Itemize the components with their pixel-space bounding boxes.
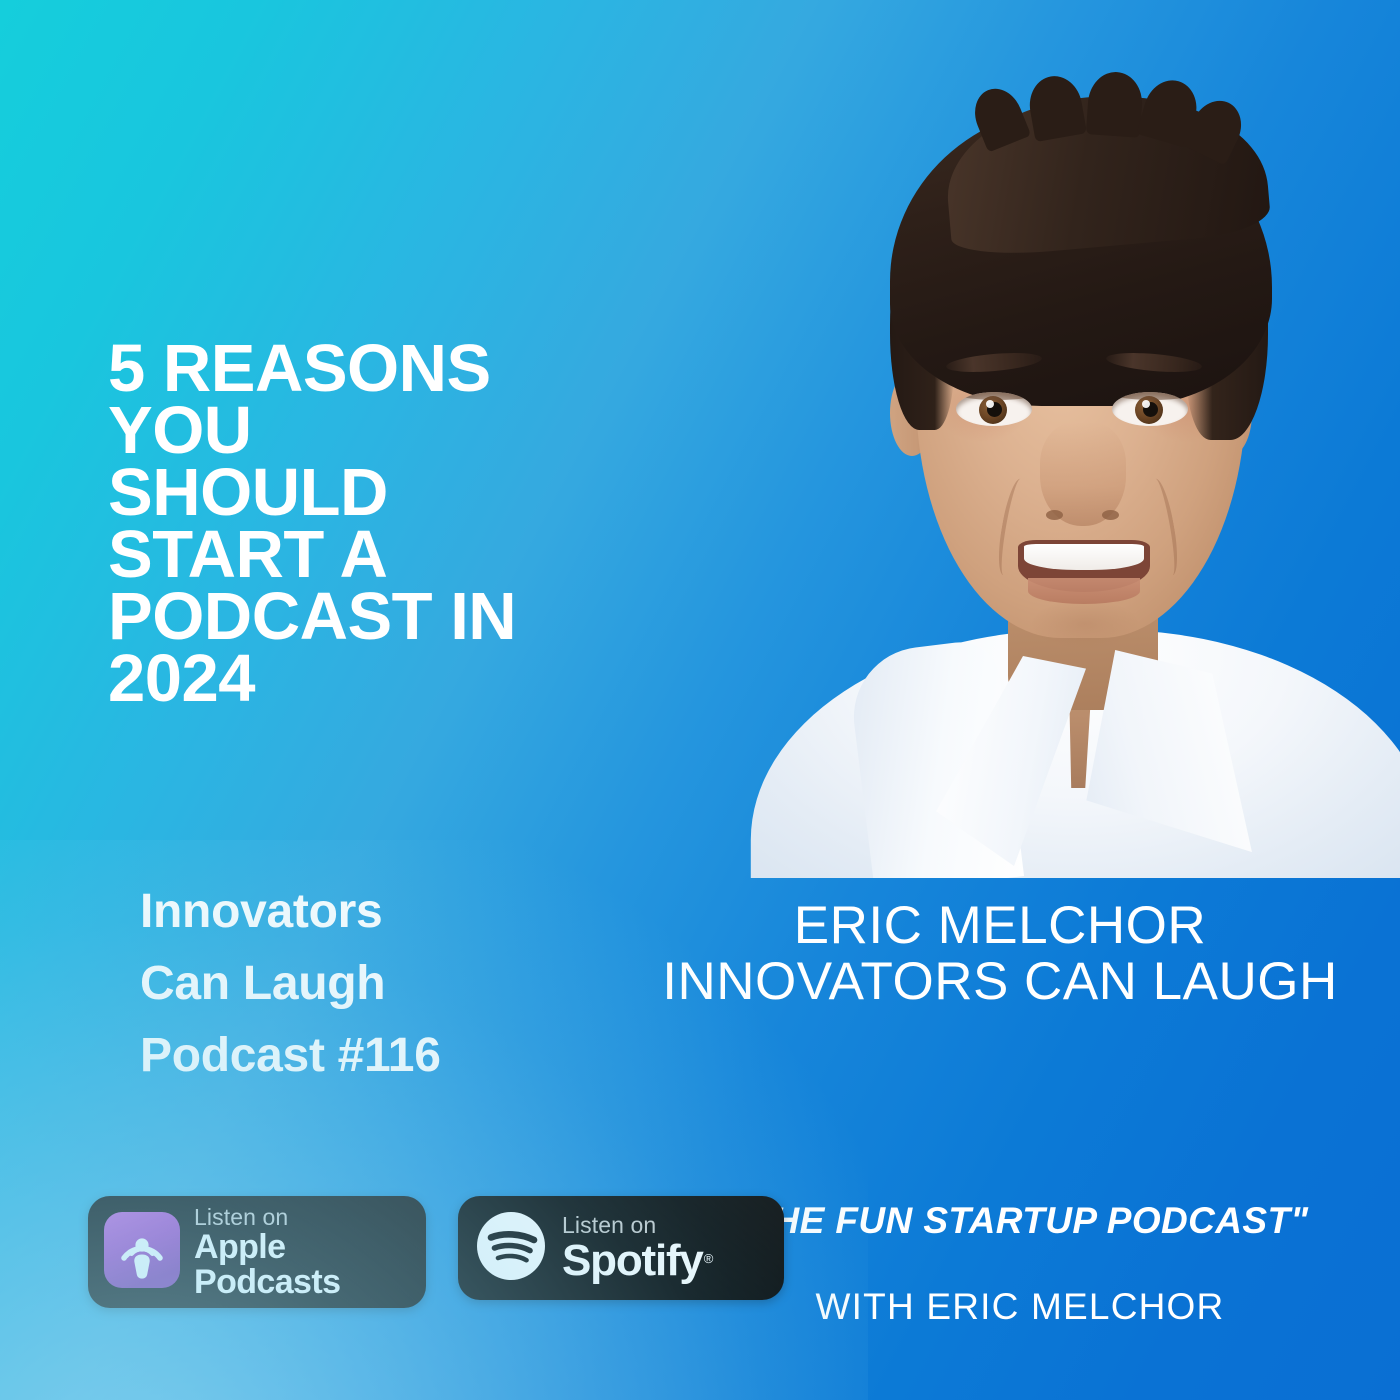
apple-badge-text: Listen on Apple Podcasts: [194, 1205, 340, 1300]
spotify-wordmark: Spotify: [562, 1236, 703, 1285]
episode-title-line: SHOULD: [108, 462, 628, 524]
apple-name-line-2: Podcasts: [194, 1265, 340, 1300]
eye-glint-right: [1142, 400, 1150, 408]
apple-name-line-1: Apple: [194, 1230, 340, 1265]
spotify-badge[interactable]: Listen on Spotify®: [458, 1196, 784, 1300]
show-name-line: Innovators: [140, 876, 610, 948]
spotify-icon: [474, 1209, 548, 1288]
nostril-right: [1102, 510, 1119, 520]
episode-title-line: PODCAST IN: [108, 586, 628, 648]
episode-title-line: YOU: [108, 400, 628, 462]
spotify-badge-text: Listen on Spotify®: [562, 1213, 711, 1284]
guest-show-name: INNOVATORS CAN LAUGH: [620, 954, 1380, 1010]
episode-title-line: START A: [108, 524, 628, 586]
guest-name: ERIC MELCHOR: [620, 898, 1380, 954]
episode-title: 5 REASONS YOU SHOULD START A PODCAST IN …: [108, 338, 628, 710]
nostril-left: [1046, 510, 1063, 520]
apple-podcasts-badge[interactable]: Listen on Apple Podcasts: [88, 1196, 426, 1308]
episode-number: Podcast #116: [140, 1020, 610, 1092]
apple-listen-label: Listen on: [194, 1205, 340, 1230]
listen-badges: Listen on Apple Podcasts Listen on Spoti…: [88, 1196, 784, 1308]
chin: [1032, 600, 1138, 648]
guest-caption: ERIC MELCHOR INNOVATORS CAN LAUGH: [620, 898, 1380, 1010]
show-name-block: Innovators Can Laugh Podcast #116: [140, 876, 610, 1092]
eye-glint-left: [986, 400, 994, 408]
episode-title-line: 2024: [108, 648, 628, 710]
registered-mark: ®: [704, 1251, 712, 1266]
teeth: [1024, 544, 1144, 570]
podcast-cover-art: 5 REASONS YOU SHOULD START A PODCAST IN …: [0, 0, 1400, 1400]
guest-portrait-photo: [740, 70, 1400, 878]
eyelid-right: [1112, 392, 1188, 400]
spotify-name: Spotify®: [562, 1238, 711, 1284]
spotify-listen-label: Listen on: [562, 1213, 711, 1238]
hair-spike: [1086, 70, 1144, 138]
eyelid-left: [956, 392, 1032, 400]
show-name-line: Can Laugh: [140, 948, 610, 1020]
episode-title-line: 5 REASONS: [108, 338, 628, 400]
portrait-illustration: [740, 70, 1400, 878]
hair-spike: [1025, 72, 1087, 142]
apple-podcasts-icon: [104, 1212, 180, 1293]
eye-right: [1112, 392, 1188, 426]
eye-left: [956, 392, 1032, 426]
